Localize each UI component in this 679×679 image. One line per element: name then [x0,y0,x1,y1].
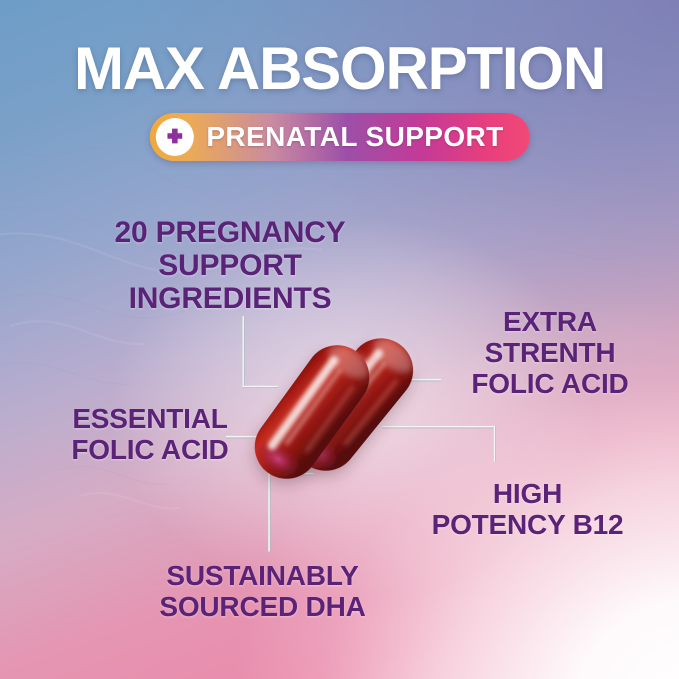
leader-line-dha [268,473,313,552]
feature-label-essential-folic-acid: ESSENTIAL FOLIC ACID [20,403,280,465]
badge-label: PRENATAL SUPPORT [206,123,503,151]
feature-label-high-potency-b12: HIGH POTENCY B12 [400,478,655,540]
feature-label-sustainably-sourced-dha: SUSTAINABLY SOURCED DHA [100,560,425,622]
page-title: MAX ABSORPTION [0,38,679,100]
leader-line-high-potency [382,426,496,462]
feature-label-extra-strength-folic-acid: EXTRA STRENTH FOLIC ACID [430,306,670,399]
prenatal-support-badge: PRENATAL SUPPORT [149,113,529,161]
plus-icon [155,118,193,156]
capsule-back [281,325,426,483]
leader-line-ingredients [242,316,278,388]
feature-label-ingredients: 20 PREGNANCY SUPPORT INGREDIENTS [55,216,405,315]
product-infographic: MAX ABSORPTION PRENATAL SUPPORT [0,0,679,679]
